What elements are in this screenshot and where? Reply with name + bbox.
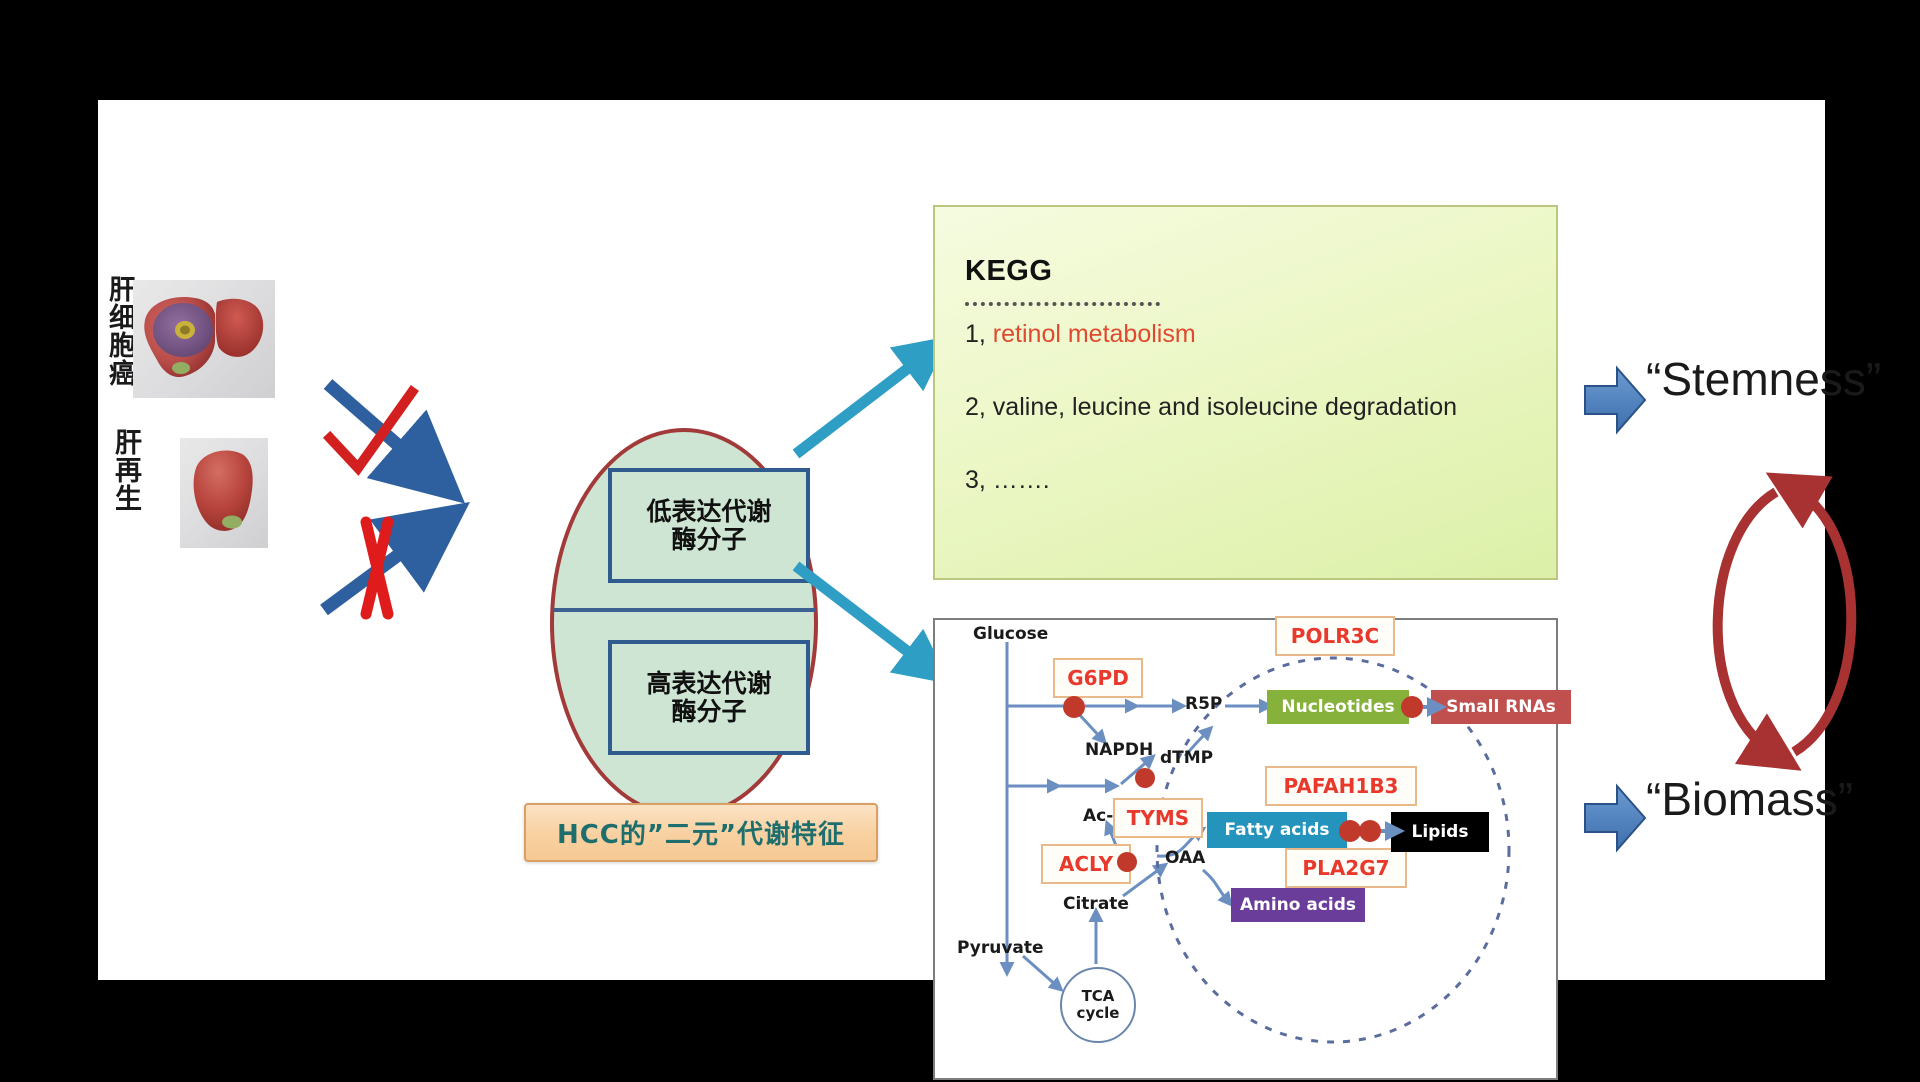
circular-feedback-arrows bbox=[1668, 470, 1898, 770]
screenshot-root: 肝细胞癌 bbox=[0, 0, 1920, 1080]
label-liver-regeneration: 肝再生 bbox=[106, 428, 145, 512]
kegg-item-1: 1, retinol metabolism bbox=[965, 320, 1526, 349]
kegg-item-3: 3, ……. bbox=[965, 466, 1526, 495]
stemness-label: “Stemness” bbox=[1646, 352, 1881, 406]
kegg-divider bbox=[965, 302, 1160, 306]
biomass-label: “Biomass” bbox=[1646, 772, 1853, 826]
low-expression-box: 低表达代谢 酶分子 bbox=[608, 468, 810, 583]
slide-canvas: 肝细胞癌 bbox=[98, 100, 1825, 980]
kegg-item-1-text: retinol metabolism bbox=[986, 320, 1196, 348]
kegg-item-3-number: 3, bbox=[965, 466, 986, 494]
stemness-block-arrow bbox=[1583, 362, 1647, 438]
kegg-item-1-number: 1, bbox=[965, 320, 986, 348]
teal-arrow-to-kegg bbox=[788, 336, 948, 466]
liver-tumor-image bbox=[133, 280, 275, 398]
teal-arrow-to-pathway bbox=[788, 556, 948, 686]
metabolic-pathway-panel: Glucose R5P NAPDH dTMP Ac-CoA OAA Citrat… bbox=[933, 618, 1558, 1080]
liver-regeneration-image bbox=[180, 438, 268, 548]
low-expression-line1: 低表达代谢 bbox=[646, 497, 771, 526]
low-expression-line2: 酶分子 bbox=[671, 525, 746, 554]
kegg-item-2: 2, valine, leucine and isoleucine degrad… bbox=[965, 393, 1526, 422]
blue-down-arrow-with-red-check bbox=[306, 362, 456, 502]
ellipse-divider bbox=[553, 608, 815, 612]
hcc-caption-text: HCC的”二元”代谢特征 bbox=[557, 814, 845, 851]
kegg-panel: KEGG 1, retinol metabolism 2, valine, le… bbox=[933, 205, 1558, 580]
high-expression-line1: 高表达代谢 bbox=[646, 669, 771, 698]
high-expression-line2: 酶分子 bbox=[671, 697, 746, 726]
pathway-product-arrows bbox=[935, 620, 1560, 1082]
biomass-block-arrow bbox=[1583, 780, 1647, 856]
blue-up-arrow-with-red-cross bbox=[310, 510, 460, 640]
kegg-item-2-text: valine, leucine and isoleucine degradati… bbox=[986, 393, 1457, 421]
kegg-item-3-text: ……. bbox=[986, 466, 1050, 494]
kegg-item-2-number: 2, bbox=[965, 393, 986, 421]
hcc-dual-metabolism-caption: HCC的”二元”代谢特征 bbox=[524, 803, 878, 862]
kegg-title: KEGG bbox=[965, 255, 1526, 288]
high-expression-box: 高表达代谢 酶分子 bbox=[608, 640, 810, 755]
